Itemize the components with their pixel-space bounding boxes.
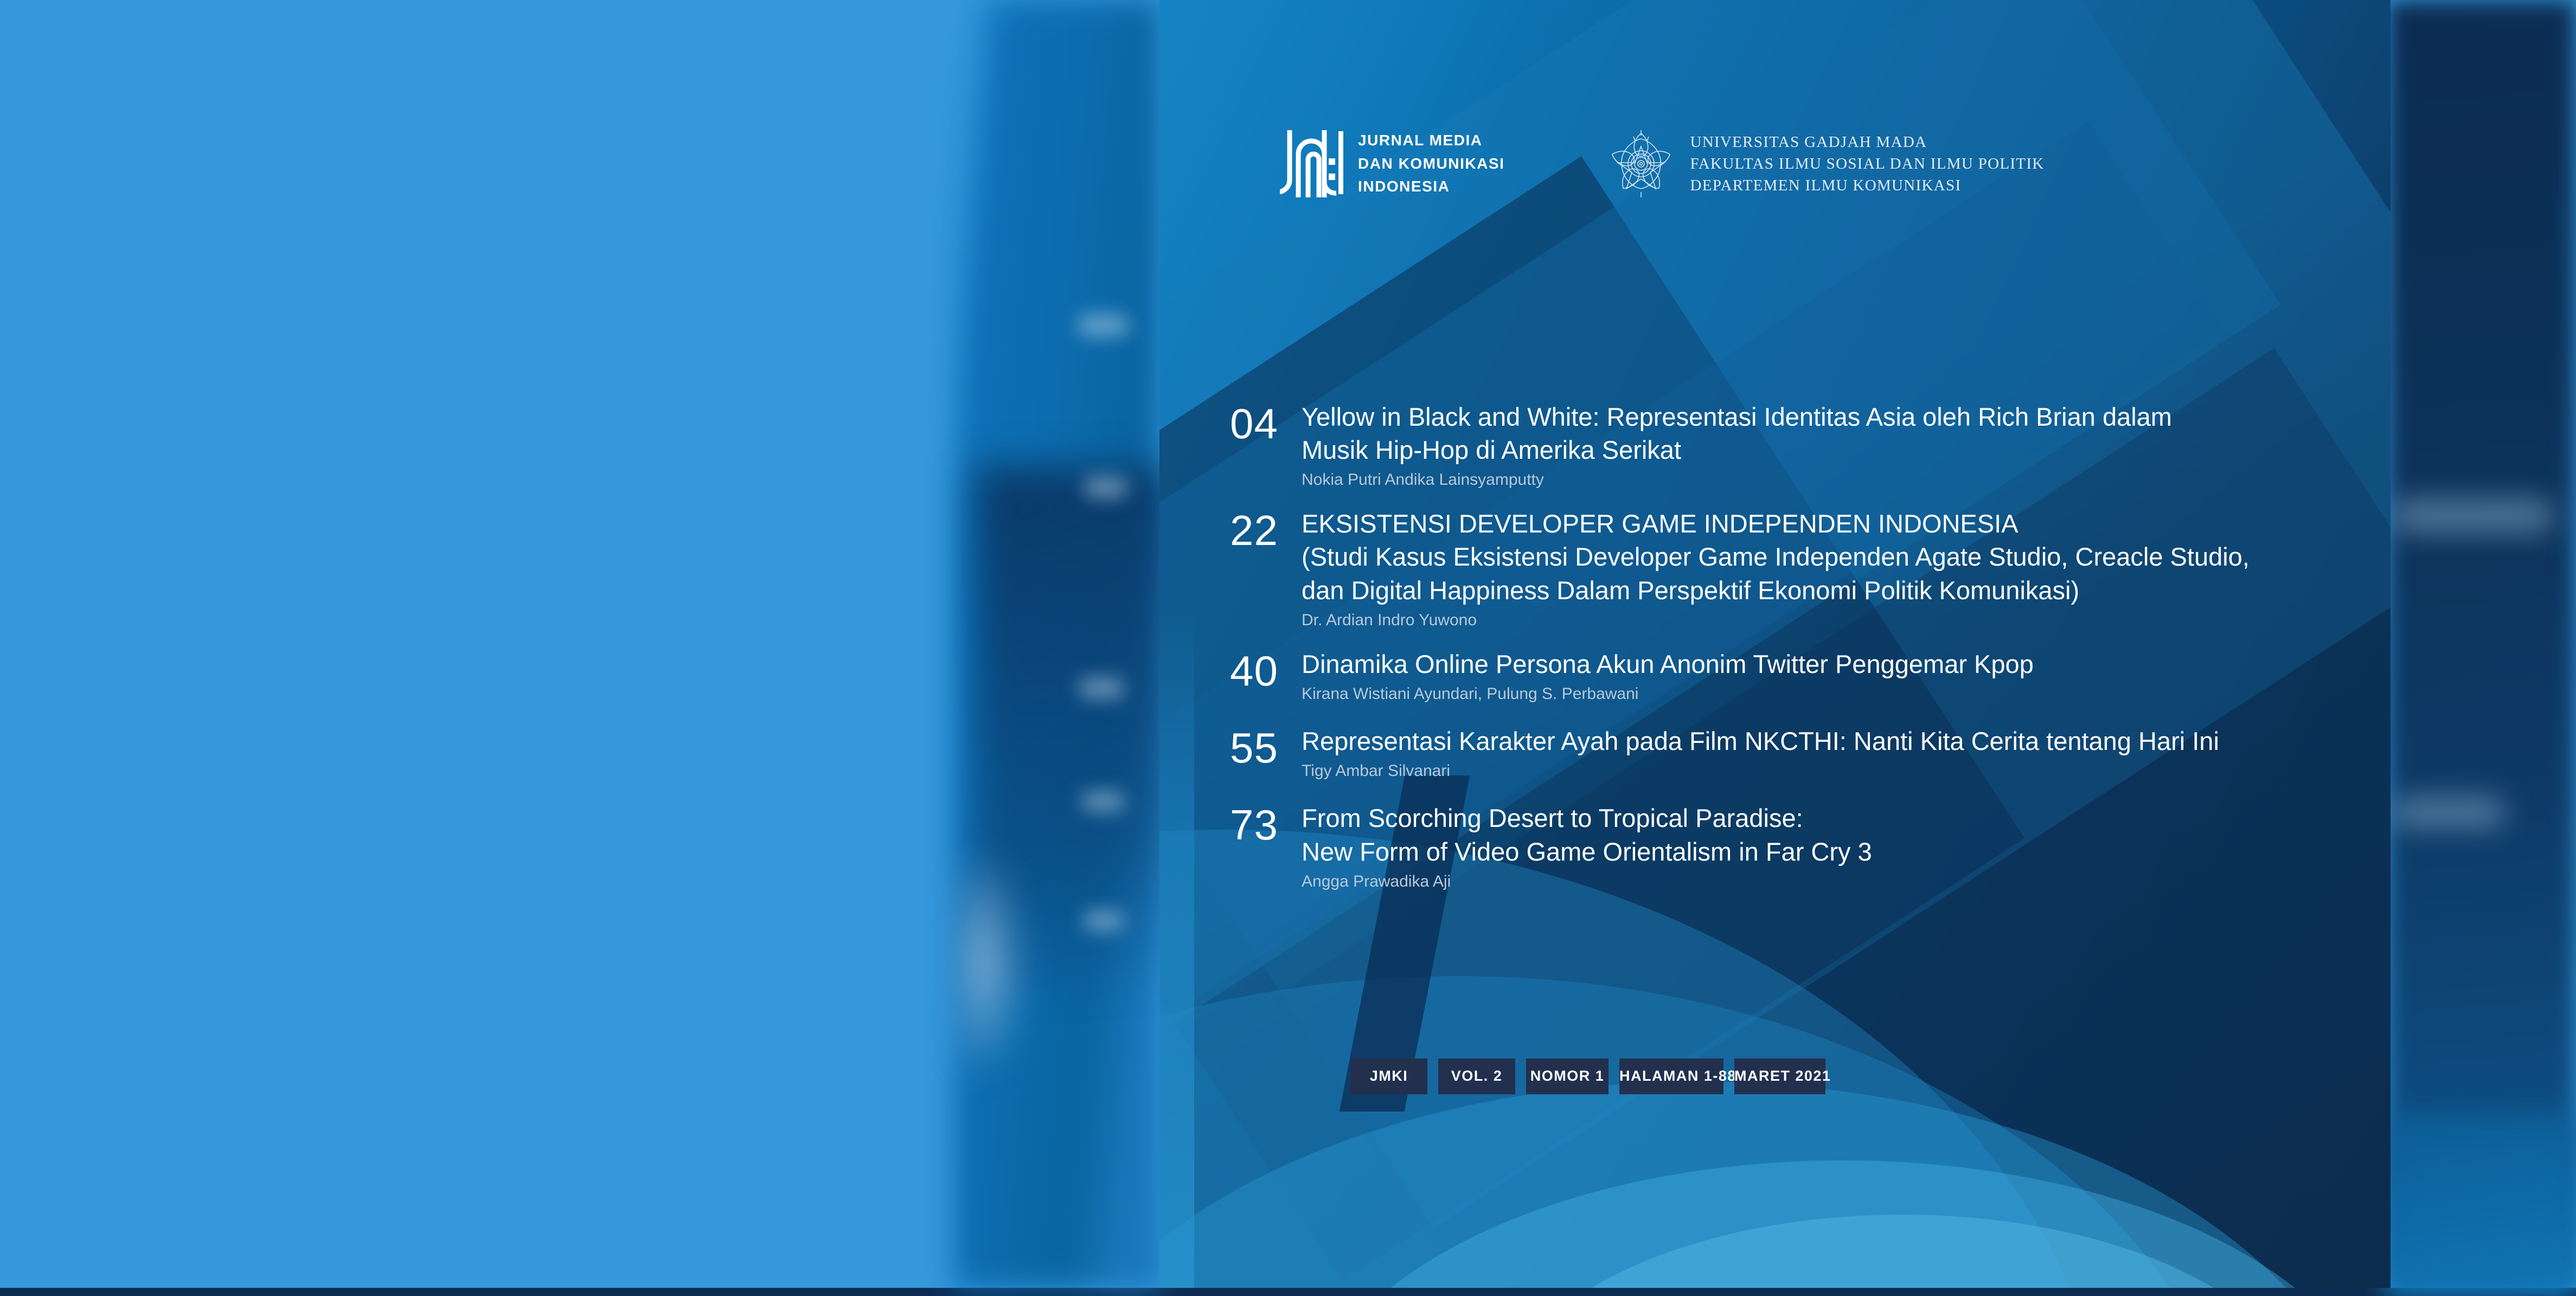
ugm-wordmark: UNIVERSITAS GADJAH MADA FAKULTAS ILMU SO… bbox=[1690, 131, 2044, 196]
toc-entry-body: From Scorching Desert to Tropical Paradi… bbox=[1302, 801, 2315, 892]
backdrop-left-glow bbox=[959, 846, 1029, 1079]
backdrop-right-streak bbox=[2392, 797, 2505, 827]
issue-badge-bar: JMKI VOL. 2 NOMOR 1 HALAMAN 1-88 MARET 2… bbox=[1350, 1058, 1825, 1094]
toc-entry-body: EKSISTENSI DEVELOPER GAME INDEPENDEN IND… bbox=[1302, 507, 2315, 631]
backdrop-blur-chip bbox=[1079, 678, 1124, 698]
toc-authors: Tigy Ambar Silvanari bbox=[1302, 760, 2315, 782]
ugm-logo: UNIVERSITAS GADJAH MADA FAKULTAS ILMU SO… bbox=[1605, 128, 2044, 200]
toc-authors: Nokia Putri Andika Lainsyamputty bbox=[1302, 469, 2315, 491]
toc-title-line: From Scorching Desert to Tropical Paradi… bbox=[1302, 801, 2315, 835]
toc-page-number: 73 bbox=[1230, 801, 1302, 846]
backdrop-blur-chip bbox=[1078, 315, 1128, 336]
toc-authors: Kirana Wistiani Ayundari, Pulung S. Perb… bbox=[1302, 683, 2315, 705]
toc-entry-body: Yellow in Black and White: Representasi … bbox=[1302, 400, 2315, 491]
toc-page-number: 04 bbox=[1230, 400, 1302, 445]
toc-entry-body: Dinamika Online Persona Akun Anonim Twit… bbox=[1302, 647, 2315, 705]
toc-title-line: Dinamika Online Persona Akun Anonim Twit… bbox=[1302, 647, 2315, 681]
badge-journal-code: JMKI bbox=[1350, 1058, 1427, 1094]
backdrop-blur-chip bbox=[1085, 477, 1127, 498]
toc-title-line: Yellow in Black and White: Representasi … bbox=[1302, 400, 2315, 433]
toc-title-line: Musik Hip-Hop di Amerika Serikat bbox=[1302, 433, 2315, 466]
toc-page-number: 40 bbox=[1230, 647, 1302, 692]
badge-pages: HALAMAN 1-88 bbox=[1619, 1058, 1723, 1094]
backdrop-blur-chip bbox=[1082, 792, 1124, 811]
toc-page-number: 55 bbox=[1230, 724, 1302, 769]
jmki-wordmark-line-1: JURNAL MEDIA bbox=[1358, 129, 1504, 152]
cover-header: JURNAL MEDIA DAN KOMUNIKASI INDONESIA bbox=[1280, 128, 2045, 200]
toc-authors: Dr. Ardian Indro Yuwono bbox=[1302, 609, 2315, 631]
badge-date: MARET 2021 bbox=[1734, 1058, 1825, 1094]
table-of-contents: 04 Yellow in Black and White: Representa… bbox=[1230, 400, 2315, 893]
ugm-wordmark-line-1: UNIVERSITAS GADJAH MADA bbox=[1690, 131, 2044, 153]
jmki-logo: JURNAL MEDIA DAN KOMUNIKASI INDONESIA bbox=[1280, 128, 1504, 200]
toc-entry[interactable]: 73 From Scorching Desert to Tropical Par… bbox=[1230, 801, 2315, 892]
toc-entry-body: Representasi Karakter Ayah pada Film NKC… bbox=[1302, 724, 2315, 782]
backdrop-left-panel bbox=[0, 0, 971, 1288]
backdrop-blur-chip bbox=[1084, 911, 1124, 931]
toc-page-number: 22 bbox=[1230, 507, 1302, 551]
jmki-wordmark-line-2: DAN KOMUNIKASI bbox=[1358, 152, 1504, 176]
toc-entry[interactable]: 22 EKSISTENSI DEVELOPER GAME INDEPENDEN … bbox=[1230, 507, 2315, 631]
toc-entry[interactable]: 40 Dinamika Online Persona Akun Anonim T… bbox=[1230, 647, 2315, 705]
ugm-wordmark-line-2: FAKULTAS ILMU SOSIAL DAN ILMU POLITIK bbox=[1690, 153, 2044, 175]
backdrop-right-panel bbox=[2387, 0, 2576, 1288]
jmki-wordmark-line-3: INDONESIA bbox=[1358, 175, 1504, 198]
jmki-monogram-icon bbox=[1280, 128, 1345, 200]
badge-volume: VOL. 2 bbox=[1438, 1058, 1515, 1094]
backdrop-right-streak bbox=[2392, 499, 2554, 532]
toc-title-line: Representasi Karakter Ayah pada Film NKC… bbox=[1302, 724, 2315, 758]
ugm-wordmark-line-3: DEPARTEMEN ILMU KOMUNIKASI bbox=[1690, 175, 2044, 196]
toc-authors: Angga Prawadika Aji bbox=[1302, 871, 2315, 893]
toc-entry[interactable]: 55 Representasi Karakter Ayah pada Film … bbox=[1230, 724, 2315, 782]
toc-title-line: dan Digital Happiness Dalam Perspektif E… bbox=[1302, 574, 2315, 607]
toc-entry[interactable]: 04 Yellow in Black and White: Representa… bbox=[1230, 400, 2315, 491]
toc-title-line: EKSISTENSI DEVELOPER GAME INDEPENDEN IND… bbox=[1302, 507, 2315, 540]
toc-title-line: (Studi Kasus Eksistensi Developer Game I… bbox=[1302, 540, 2315, 573]
toc-title-line: New Form of Video Game Orientalism in Fa… bbox=[1302, 835, 2315, 868]
ugm-rosette-seal-icon bbox=[1605, 128, 1677, 200]
backdrop-right-bottom-glow bbox=[2387, 1117, 2576, 1296]
jmki-wordmark: JURNAL MEDIA DAN KOMUNIKASI INDONESIA bbox=[1358, 129, 1504, 198]
badge-number: NOMOR 1 bbox=[1526, 1058, 1609, 1094]
